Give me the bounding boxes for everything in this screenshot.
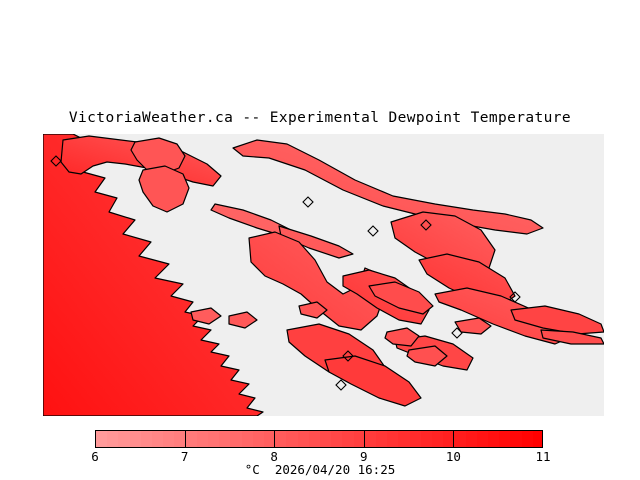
colorbar-step [376, 431, 388, 447]
colorbar-step [454, 431, 466, 447]
colorbar-step [219, 431, 231, 447]
colorbar-step [286, 431, 298, 447]
colorbar-step [96, 431, 108, 447]
colorbar-tick [364, 430, 365, 448]
colorbar-step [163, 431, 175, 447]
colorbar-step [309, 431, 321, 447]
colorbar-step [421, 431, 433, 447]
colorbar-step [130, 431, 142, 447]
page-title: VictoriaWeather.ca -- Experimental Dewpo… [0, 110, 640, 126]
dewpoint-contour-map[interactable] [43, 134, 604, 416]
colorbar[interactable]: 67891011 [95, 430, 543, 448]
colorbar-caption: °C 2026/04/20 16:25 [0, 462, 640, 477]
colorbar-step [253, 431, 265, 447]
colorbar-step [152, 431, 164, 447]
colorbar-step [208, 431, 220, 447]
colorbar-step [398, 431, 410, 447]
colorbar-step [387, 431, 399, 447]
colorbar-step [522, 431, 534, 447]
colorbar-step [365, 431, 377, 447]
colorbar-step [118, 431, 130, 447]
colorbar-tick [453, 430, 454, 448]
colorbar-step [275, 431, 287, 447]
colorbar-step [533, 431, 543, 447]
colorbar-tick [185, 430, 186, 448]
colorbar-step [342, 431, 354, 447]
colorbar-step [197, 431, 209, 447]
colorbar-gradient [95, 430, 543, 448]
colorbar-step [477, 431, 489, 447]
colorbar-step [186, 431, 198, 447]
colorbar-step [141, 431, 153, 447]
colorbar-step [320, 431, 332, 447]
colorbar-step [331, 431, 343, 447]
colorbar-step [432, 431, 444, 447]
colorbar-step [410, 431, 422, 447]
colorbar-step [107, 431, 119, 447]
colorbar-step [298, 431, 310, 447]
colorbar-step [499, 431, 511, 447]
map-panel[interactable] [43, 134, 604, 416]
weather-map-page: VictoriaWeather.ca -- Experimental Dewpo… [0, 0, 640, 480]
colorbar-step [242, 431, 254, 447]
colorbar-step [466, 431, 478, 447]
colorbar-step [488, 431, 500, 447]
colorbar-step [230, 431, 242, 447]
colorbar-tick [274, 430, 275, 448]
colorbar-step [510, 431, 522, 447]
